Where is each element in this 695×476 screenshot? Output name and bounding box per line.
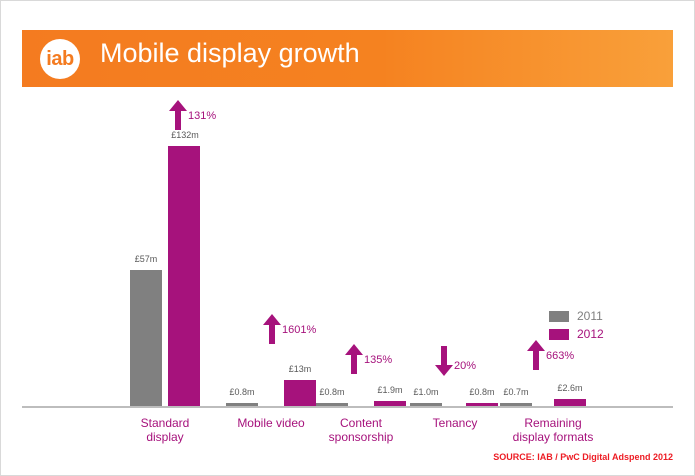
growth-arrow-up-standard-display [168, 100, 188, 130]
bar-label-2011-content-sponsorship: £0.8m [310, 387, 354, 397]
legend-swatch-2011 [549, 311, 569, 322]
growth-label-content-sponsorship: 135% [364, 354, 392, 366]
bar-2012-content-sponsorship [374, 401, 406, 406]
bar-label-2011-remaining-display-formats: £0.7m [494, 387, 538, 397]
bar-label-2012-mobile-video: £13m [280, 364, 320, 374]
bar-2011-tenancy [410, 403, 442, 406]
page-title: Mobile display growth [100, 38, 360, 69]
growth-label-remaining-display-formats: 663% [546, 350, 574, 362]
iab-logo: iab [40, 39, 80, 79]
header-band: iab Mobile display growth [22, 30, 673, 87]
bar-label-2011-mobile-video: £0.8m [220, 387, 264, 397]
bar-2012-remaining-display-formats [554, 399, 586, 406]
legend-swatch-2012 [549, 329, 569, 340]
bar-2012-tenancy [466, 403, 498, 406]
iab-logo-text: iab [40, 39, 80, 79]
bar-label-2011-standard-display: £57m [126, 254, 166, 264]
bar-label-2012-remaining-display-formats: £2.6m [548, 383, 592, 393]
category-label-tenancy: Tenancy [410, 416, 500, 430]
category-label-content-sponsorship: Contentsponsorship [316, 416, 406, 444]
bar-label-2012-standard-display: £132m [162, 130, 208, 140]
category-label-standard-display: Standarddisplay [120, 416, 210, 444]
growth-arrow-up-mobile-video [262, 314, 282, 344]
bar-2012-standard-display [168, 146, 200, 406]
source-note: SOURCE: IAB / PwC Digital Adspend 2012 [493, 452, 673, 462]
chart-baseline [22, 406, 673, 408]
growth-arrow-down-tenancy [434, 346, 454, 376]
bar-2011-content-sponsorship [316, 403, 348, 406]
chart-area: £57m £132m 131% Standarddisplay £0.8m £1… [22, 96, 673, 416]
growth-arrow-up-remaining-display-formats [526, 340, 546, 370]
growth-label-mobile-video: 1601% [282, 324, 316, 336]
bar-2011-standard-display [130, 270, 162, 406]
growth-label-tenancy: 20% [454, 360, 476, 372]
category-label-remaining-display-formats: Remainingdisplay formats [498, 416, 608, 444]
category-label-mobile-video: Mobile video [226, 416, 316, 430]
bar-2011-remaining-display-formats [500, 403, 532, 406]
growth-label-standard-display: 131% [188, 110, 216, 122]
legend-label-2012: 2012 [577, 326, 604, 342]
bar-label-2011-tenancy: £1.0m [404, 387, 448, 397]
legend-label-2011: 2011 [577, 308, 603, 324]
growth-arrow-up-content-sponsorship [344, 344, 364, 374]
bar-2011-mobile-video [226, 403, 258, 406]
